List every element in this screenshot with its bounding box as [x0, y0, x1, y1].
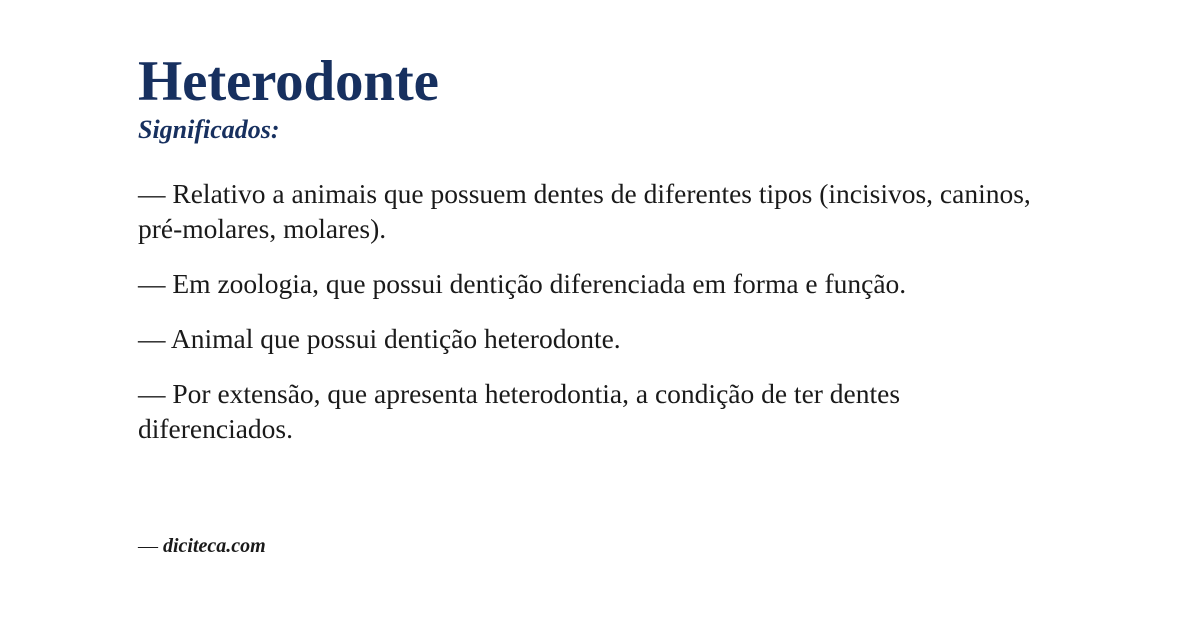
- entry-content: Heterodonte Significados: — Relativo a a…: [138, 52, 1048, 447]
- em-dash-marker: —: [138, 178, 166, 209]
- source-dash: —: [138, 535, 158, 557]
- em-dash-marker: —: [138, 323, 166, 354]
- definition-item: — Por extensão, que apresenta heterodont…: [138, 376, 1043, 448]
- source-name: diciteca.com: [163, 535, 266, 557]
- em-dash-marker: —: [138, 378, 166, 409]
- definition-text: Em zoologia, que possui dentição diferen…: [172, 268, 906, 299]
- definition-item: — Relativo a animais que possuem dentes …: [138, 176, 1043, 248]
- meanings-label: Significados:: [138, 114, 1048, 145]
- definition-text: Relativo a animais que possuem dentes de…: [138, 178, 1031, 245]
- page-title: Heterodonte: [138, 52, 1048, 112]
- source-attribution: — diciteca.com: [138, 534, 266, 558]
- definition-item: — Animal que possui dentição heterodonte…: [138, 321, 1043, 357]
- definition-text: Animal que possui dentição heterodonte.: [171, 323, 621, 354]
- definition-item: — Em zoologia, que possui dentição difer…: [138, 266, 1043, 302]
- dictionary-entry-card: Heterodonte Significados: — Relativo a a…: [0, 0, 1200, 628]
- definition-text: Por extensão, que apresenta heterodontia…: [138, 378, 900, 445]
- em-dash-marker: —: [138, 268, 166, 299]
- definition-list: — Relativo a animais que possuem dentes …: [138, 176, 1048, 448]
